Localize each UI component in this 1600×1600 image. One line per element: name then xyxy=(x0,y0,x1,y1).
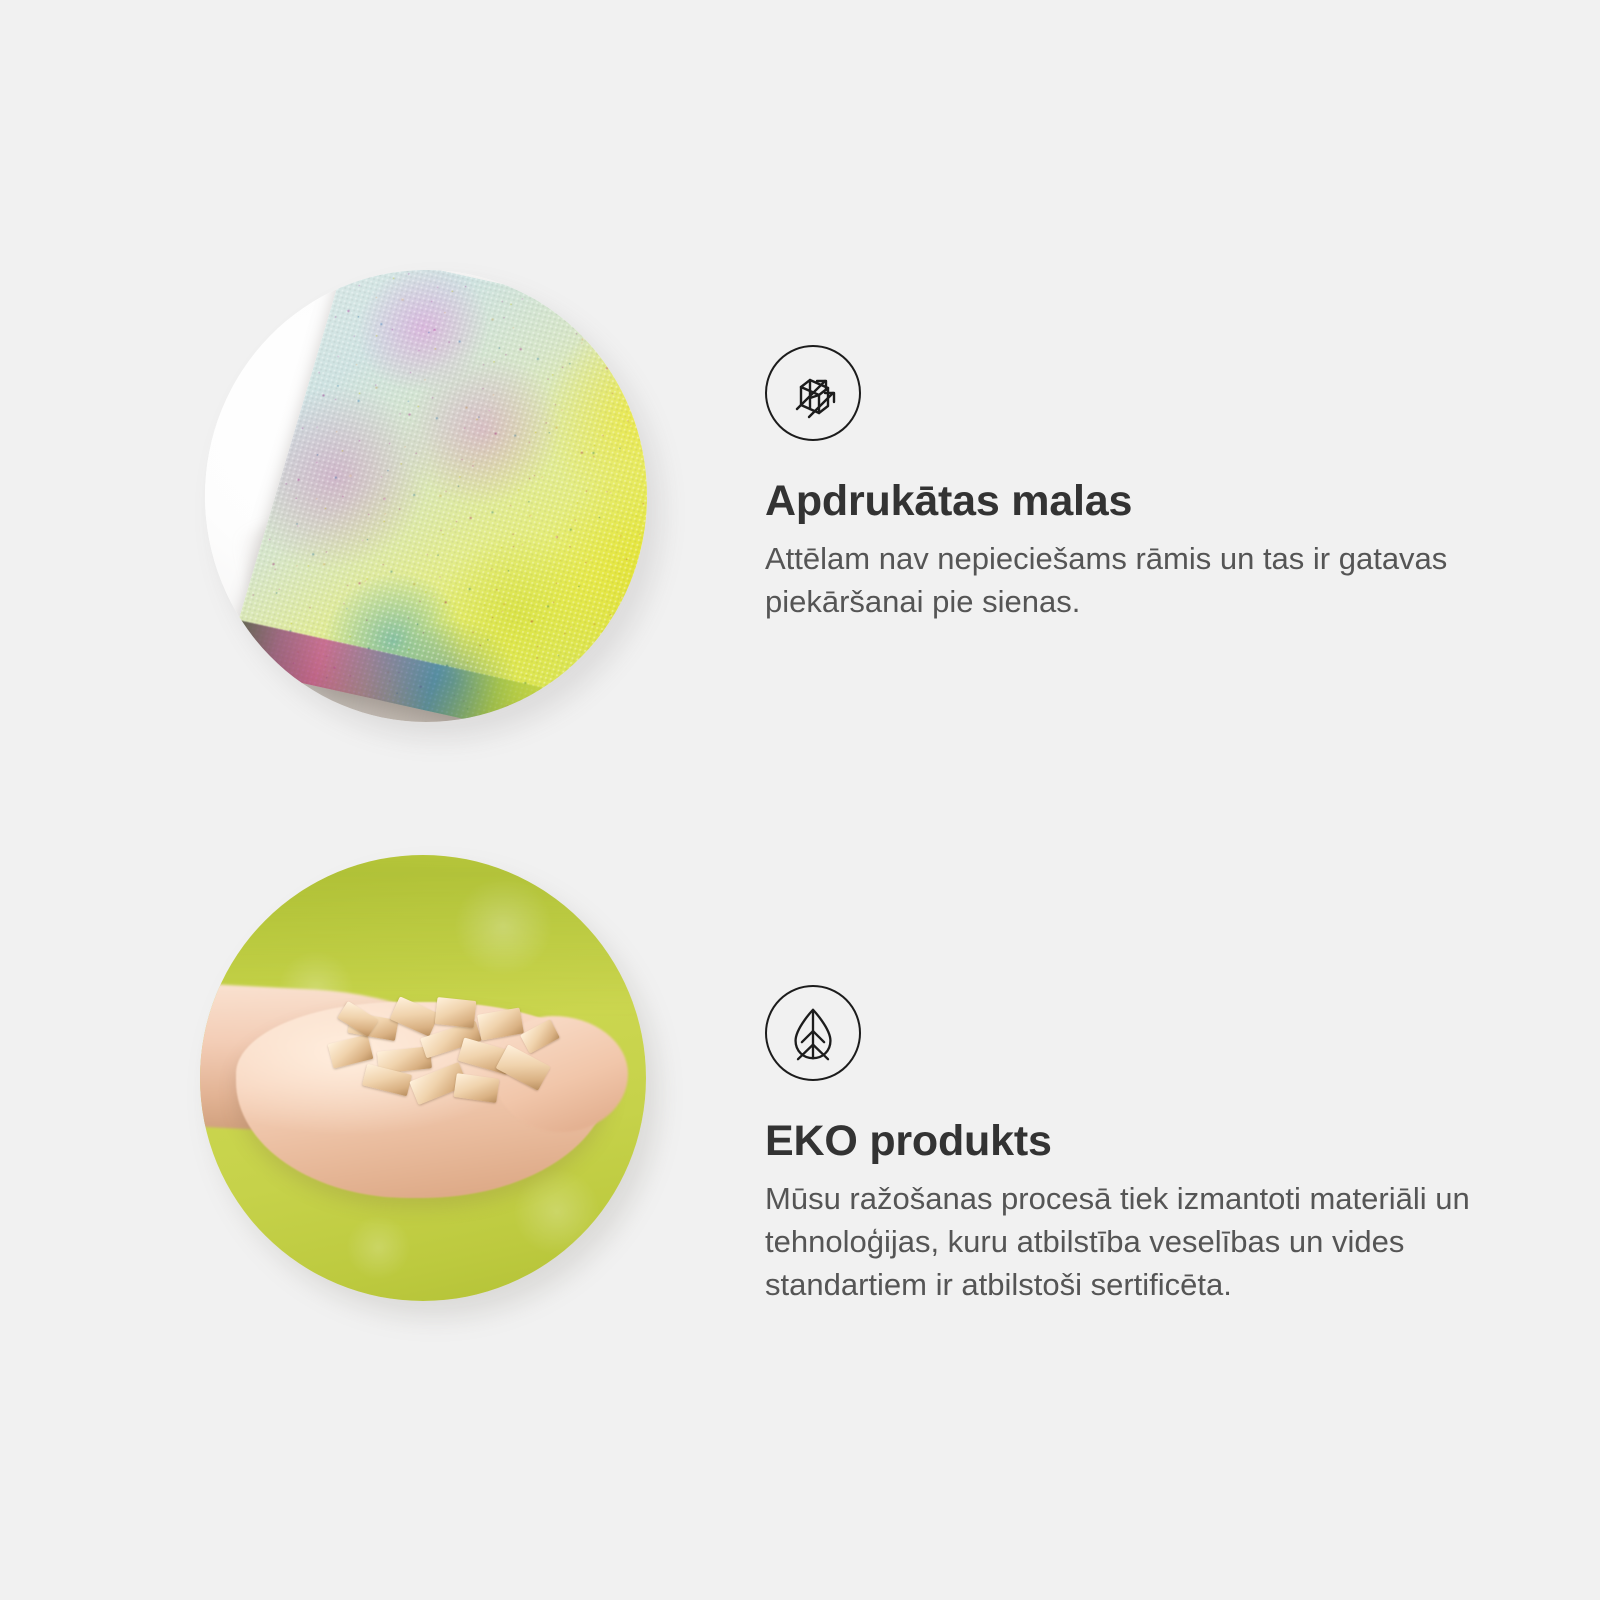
product-features-page: Apdrukātas malas Attēlam nav nepieciešam… xyxy=(0,0,1600,1600)
feature-printed-edges-copy: Apdrukātas malas Attēlam nav nepieciešam… xyxy=(765,345,1485,624)
eco-grass-highlight xyxy=(200,855,646,1007)
feature-title: Apdrukātas malas xyxy=(765,479,1485,524)
eco-wood-chip-pile xyxy=(320,989,561,1114)
feature-title: EKO produkts xyxy=(765,1119,1485,1164)
feature-printed-edges: Apdrukātas malas Attēlam nav nepieciešam… xyxy=(0,250,1600,750)
leaf-icon xyxy=(765,985,861,1081)
hand-wood-chips-photo xyxy=(200,855,646,1301)
feature-description: Mūsu ražošanas procesā tiek izmantoti ma… xyxy=(765,1178,1477,1306)
feature-eco-product: EKO produkts Mūsu ražošanas procesā tiek… xyxy=(0,830,1600,1330)
printed-edges-icon xyxy=(765,345,861,441)
feature-description: Attēlam nav nepieciešams rāmis un tas ir… xyxy=(765,538,1477,624)
feature-eco-product-copy: EKO produkts Mūsu ražošanas procesā tiek… xyxy=(765,985,1485,1306)
canvas-print-edge-photo xyxy=(205,270,647,722)
